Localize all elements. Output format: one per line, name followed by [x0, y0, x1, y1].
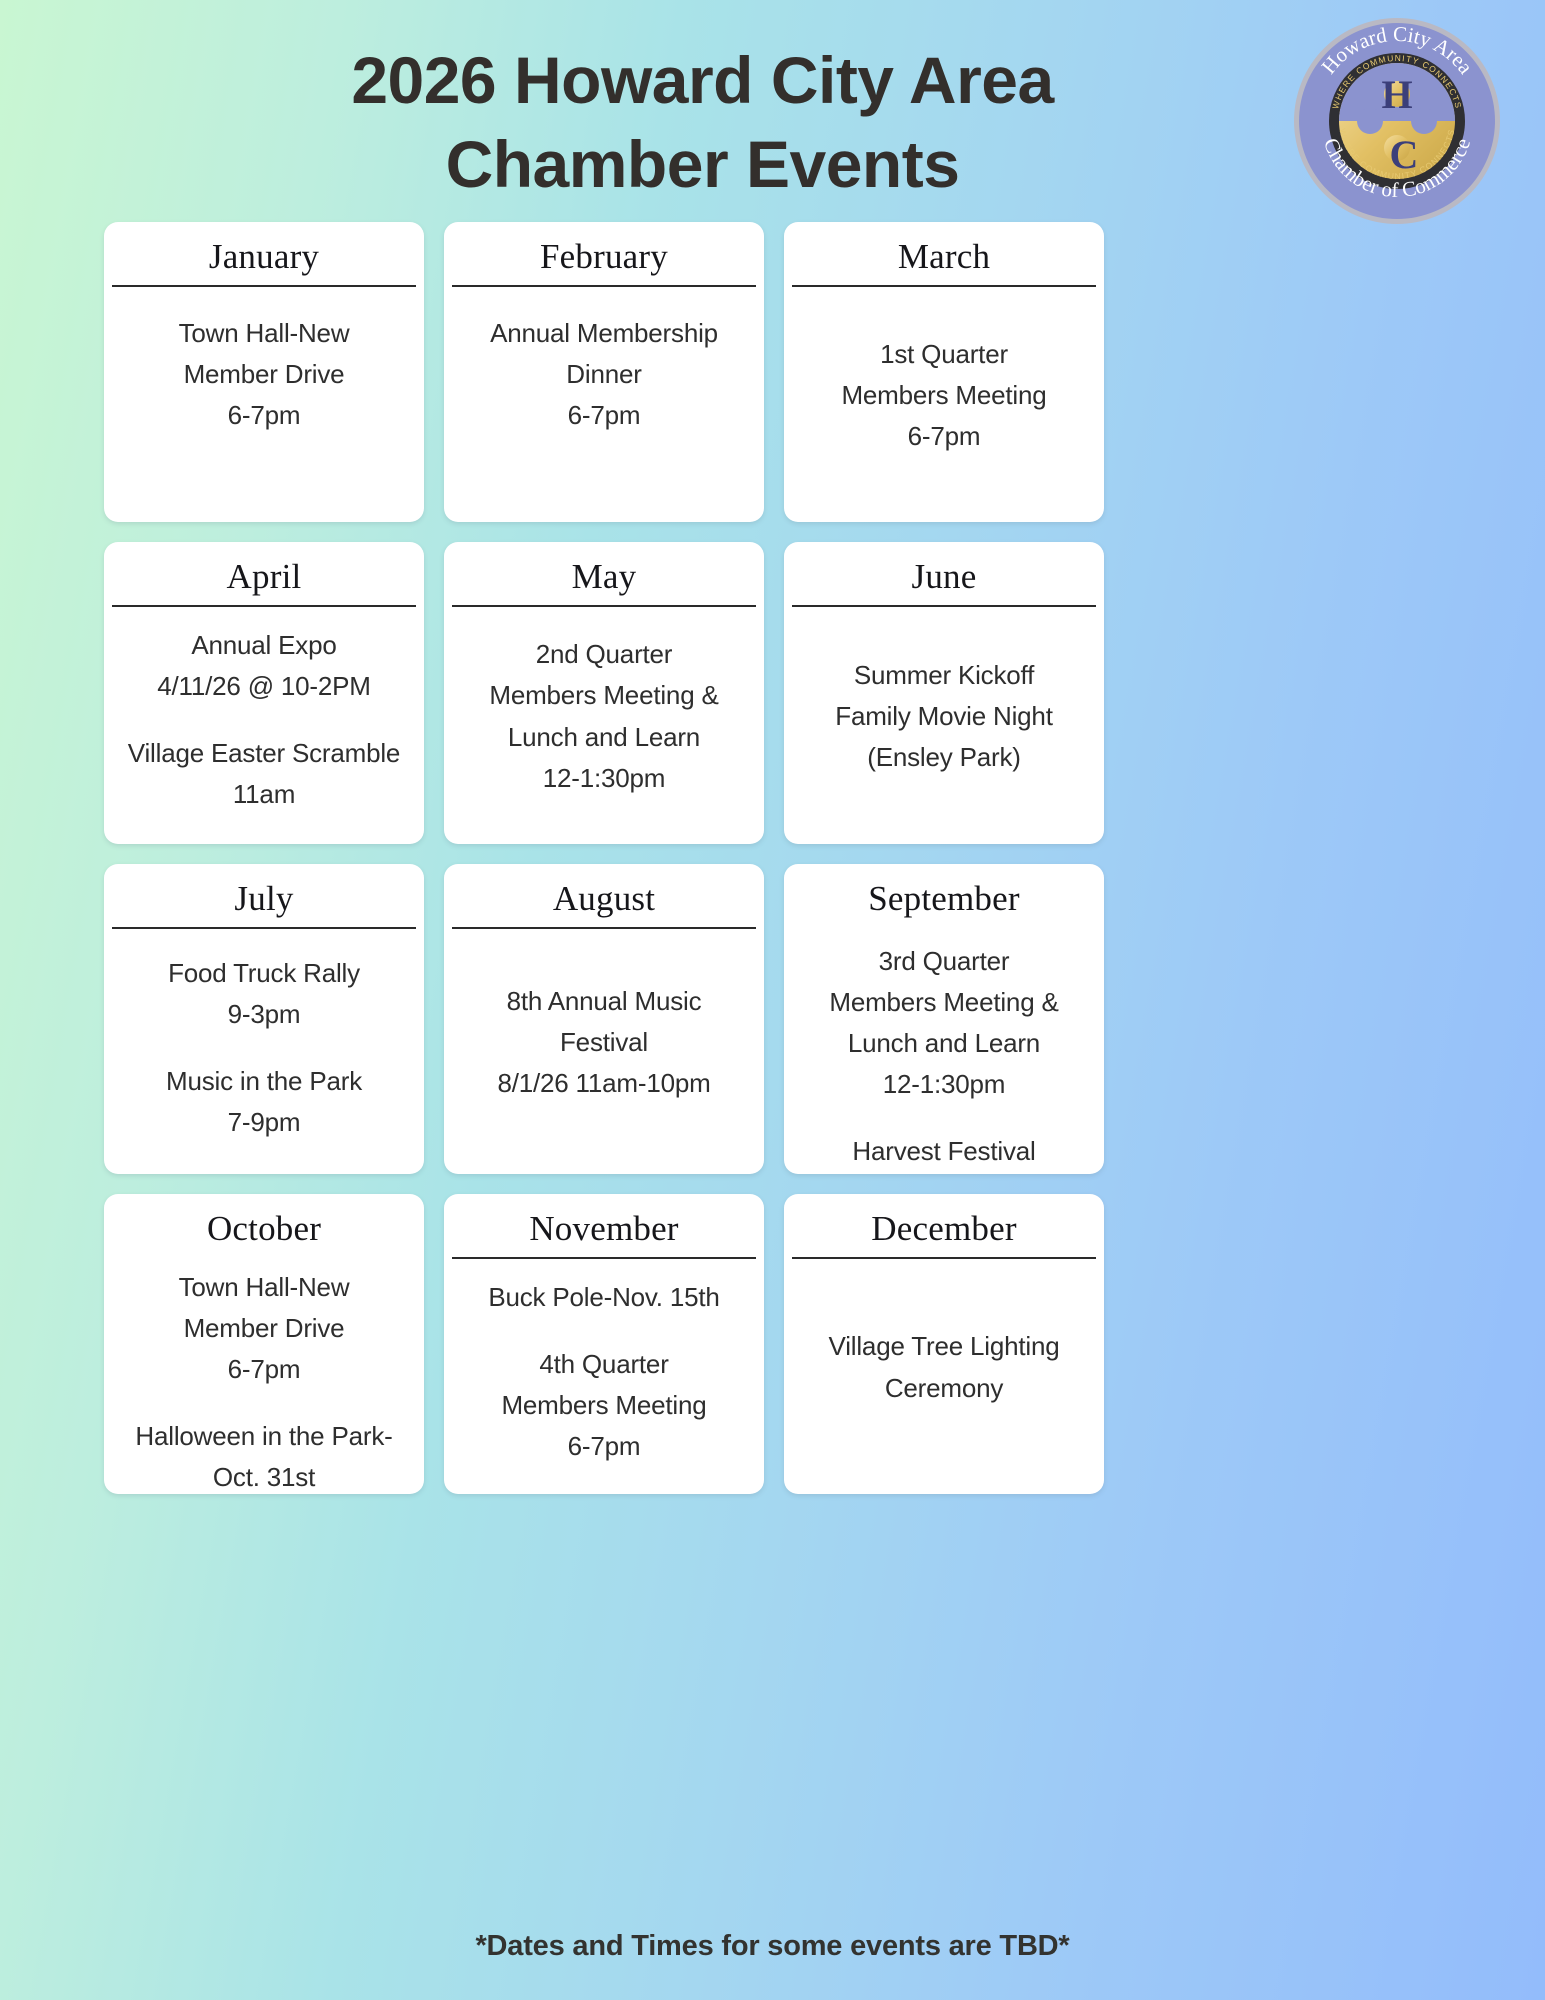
- event-entry: Music in the Park7-9pm: [114, 1061, 414, 1143]
- event-entry: Food Truck Rally9-3pm: [114, 953, 414, 1035]
- month-card-april: AprilAnnual Expo4/11/26 @ 10-2PMVillage …: [104, 542, 424, 844]
- month-card-june: JuneSummer KickoffFamily Movie Night(Ens…: [784, 542, 1104, 844]
- month-card-september: September3rd QuarterMembers Meeting &Lun…: [784, 864, 1104, 1174]
- month-card-may: May2nd QuarterMembers Meeting &Lunch and…: [444, 542, 764, 844]
- month-events: Town Hall-NewMember Drive6-7pmHalloween …: [104, 1257, 424, 1494]
- event-line: Ceremony: [794, 1368, 1094, 1409]
- month-events: Annual MembershipDinner6-7pm: [444, 287, 764, 522]
- month-name: February: [444, 222, 764, 285]
- event-line: 8th Annual Music: [454, 981, 754, 1022]
- page-title-line-1: 2026 Howard City Area: [120, 38, 1285, 122]
- event-line: 4/11/26 @ 10-2PM: [114, 666, 414, 707]
- event-entry: Village Easter Scramble11am: [114, 733, 414, 815]
- month-name: April: [104, 542, 424, 605]
- event-line: 11am: [114, 774, 414, 815]
- event-entry: 4th QuarterMembers Meeting6-7pm: [454, 1344, 754, 1467]
- month-events: Town Hall-NewMember Drive6-7pm: [104, 287, 424, 522]
- event-entry: Harvest Festival: [794, 1131, 1094, 1172]
- month-events: 2nd QuarterMembers Meeting &Lunch and Le…: [444, 607, 764, 844]
- month-events: Annual Expo4/11/26 @ 10-2PMVillage Easte…: [104, 607, 424, 844]
- event-entry: Halloween in the Park-Oct. 31st: [114, 1416, 414, 1494]
- chamber-logo: H C Howard City Area Chamber of Commerce…: [1292, 16, 1502, 226]
- event-line: 2nd Quarter: [454, 634, 754, 675]
- event-line: Members Meeting &: [454, 675, 754, 716]
- event-line: Members Meeting: [794, 375, 1094, 416]
- event-line: 9-3pm: [114, 994, 414, 1035]
- event-line: Annual Expo: [114, 625, 414, 666]
- event-line: 6-7pm: [114, 395, 414, 436]
- month-events: Food Truck Rally9-3pmMusic in the Park7-…: [104, 929, 424, 1174]
- month-card-february: FebruaryAnnual MembershipDinner6-7pm: [444, 222, 764, 522]
- event-line: Food Truck Rally: [114, 953, 414, 994]
- month-name: March: [784, 222, 1104, 285]
- event-line: Village Tree Lighting: [794, 1326, 1094, 1367]
- event-line: 12-1:30pm: [794, 1064, 1094, 1105]
- month-name: December: [784, 1194, 1104, 1257]
- month-name: June: [784, 542, 1104, 605]
- month-card-march: March1st QuarterMembers Meeting6-7pm: [784, 222, 1104, 522]
- event-line: Member Drive: [114, 354, 414, 395]
- event-line: Lunch and Learn: [454, 717, 754, 758]
- event-entry: Summer KickoffFamily Movie Night(Ensley …: [794, 655, 1094, 778]
- month-name: May: [444, 542, 764, 605]
- event-line: Harvest Festival: [794, 1131, 1094, 1172]
- month-name: September: [784, 864, 1104, 927]
- event-entry: Town Hall-NewMember Drive6-7pm: [114, 1267, 414, 1390]
- month-events: 1st QuarterMembers Meeting6-7pm: [784, 287, 1104, 522]
- event-line: Members Meeting &: [794, 982, 1094, 1023]
- event-line: 3rd Quarter: [794, 941, 1094, 982]
- event-entry: Village Tree LightingCeremony: [794, 1326, 1094, 1408]
- event-entry: 8th Annual MusicFestival8/1/26 11am-10pm: [454, 981, 754, 1104]
- month-card-november: NovemberBuck Pole-Nov. 15th4th QuarterMe…: [444, 1194, 764, 1494]
- event-entry: 2nd QuarterMembers Meeting &Lunch and Le…: [454, 634, 754, 798]
- event-entry: Buck Pole-Nov. 15th: [454, 1277, 754, 1318]
- event-line: 6-7pm: [794, 416, 1094, 457]
- event-line: Summer Kickoff: [794, 655, 1094, 696]
- month-events: Village Tree LightingCeremony: [784, 1259, 1104, 1494]
- event-line: 6-7pm: [114, 1349, 414, 1390]
- event-line: Halloween in the Park-: [114, 1416, 414, 1457]
- event-line: 1st Quarter: [794, 334, 1094, 375]
- events-calendar-grid: JanuaryTown Hall-NewMember Drive6-7pmFeb…: [104, 222, 1106, 1494]
- event-line: Festival: [454, 1022, 754, 1063]
- month-events: 3rd QuarterMembers Meeting &Lunch and Le…: [784, 927, 1104, 1174]
- event-line: Members Meeting: [454, 1385, 754, 1426]
- month-card-october: OctoberTown Hall-NewMember Drive6-7pmHal…: [104, 1194, 424, 1494]
- event-line: Music in the Park: [114, 1061, 414, 1102]
- event-line: Lunch and Learn: [794, 1023, 1094, 1064]
- month-name: November: [444, 1194, 764, 1257]
- month-events: 8th Annual MusicFestival8/1/26 11am-10pm: [444, 929, 764, 1174]
- event-entry: Town Hall-NewMember Drive6-7pm: [114, 313, 414, 436]
- event-line: Village Easter Scramble: [114, 733, 414, 774]
- event-line: (Ensley Park): [794, 737, 1094, 778]
- event-line: 8/1/26 11am-10pm: [454, 1063, 754, 1104]
- page-title-line-2: Chamber Events: [120, 122, 1285, 206]
- event-line: Town Hall-New: [114, 1267, 414, 1308]
- month-events: Buck Pole-Nov. 15th4th QuarterMembers Me…: [444, 1259, 764, 1494]
- event-line: Dinner: [454, 354, 754, 395]
- month-events: Summer KickoffFamily Movie Night(Ensley …: [784, 607, 1104, 844]
- event-line: 12-1:30pm: [454, 758, 754, 799]
- month-card-january: JanuaryTown Hall-NewMember Drive6-7pm: [104, 222, 424, 522]
- month-name: January: [104, 222, 424, 285]
- month-card-august: August8th Annual MusicFestival8/1/26 11a…: [444, 864, 764, 1174]
- event-line: Member Drive: [114, 1308, 414, 1349]
- logo-monogram-h: H: [1381, 72, 1412, 117]
- month-name: August: [444, 864, 764, 927]
- event-line: Annual Membership: [454, 313, 754, 354]
- month-name: October: [104, 1194, 424, 1257]
- month-card-december: DecemberVillage Tree LightingCeremony: [784, 1194, 1104, 1494]
- event-line: Family Movie Night: [794, 696, 1094, 737]
- event-line: 4th Quarter: [454, 1344, 754, 1385]
- event-entry: 3rd QuarterMembers Meeting &Lunch and Le…: [794, 941, 1094, 1105]
- event-line: 6-7pm: [454, 395, 754, 436]
- event-entry: 1st QuarterMembers Meeting6-7pm: [794, 334, 1094, 457]
- month-card-july: JulyFood Truck Rally9-3pmMusic in the Pa…: [104, 864, 424, 1174]
- poster-header: 2026 Howard City Area Chamber Events: [0, 0, 1545, 218]
- event-line: 6-7pm: [454, 1426, 754, 1467]
- event-line: Oct. 31st: [114, 1457, 414, 1494]
- event-line: Buck Pole-Nov. 15th: [454, 1277, 754, 1318]
- event-entry: Annual Expo4/11/26 @ 10-2PM: [114, 625, 414, 707]
- event-line: Town Hall-New: [114, 313, 414, 354]
- event-entry: Annual MembershipDinner6-7pm: [454, 313, 754, 436]
- month-name: July: [104, 864, 424, 927]
- event-line: 7-9pm: [114, 1102, 414, 1143]
- footnote: *Dates and Times for some events are TBD…: [0, 1930, 1545, 1963]
